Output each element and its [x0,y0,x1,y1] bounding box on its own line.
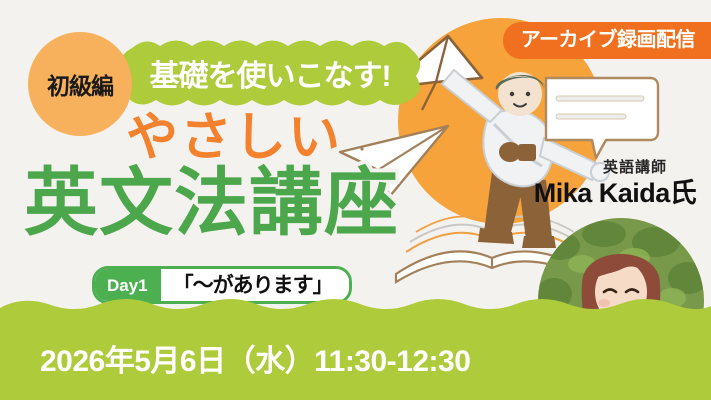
speech-bubble-icon [540,70,660,162]
instructor-name: Mika Kaida氏 [525,180,705,207]
date-band-wave [0,294,711,316]
instructor-role: 英語講師 [565,160,705,175]
headline-ribbon-text: 基礎を使いこなす! [112,38,428,108]
title-line-1: やさしい [126,112,342,164]
title-line-2: 英文法講座 [24,166,399,240]
archive-badge: アーカイブ録画配信 [503,22,711,59]
seminar-banner: 基礎を使いこなす! 初級編 アーカイブ録画配信 やさしい 英文法講座 Day1 … [0,0,711,400]
level-badge-label: 初級編 [28,32,132,136]
schedule-text: 2026年5月6日（水）11:30-12:30 [0,316,711,400]
